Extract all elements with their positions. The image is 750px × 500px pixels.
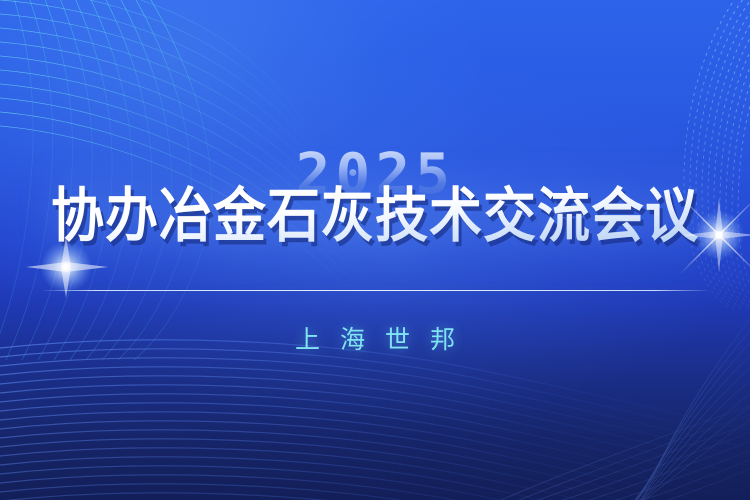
divider-line: [42, 290, 708, 291]
page-title: 协办冶金石灰技术交流会议: [51, 183, 699, 249]
subtitle-text: 上海世邦: [0, 320, 750, 356]
title-wrapper: 协办冶金石灰技术交流会议: [0, 187, 750, 246]
banner-content: 2025 协办冶金石灰技术交流会议: [0, 0, 750, 500]
conference-banner: 2025 协办冶金石灰技术交流会议: [0, 0, 750, 500]
